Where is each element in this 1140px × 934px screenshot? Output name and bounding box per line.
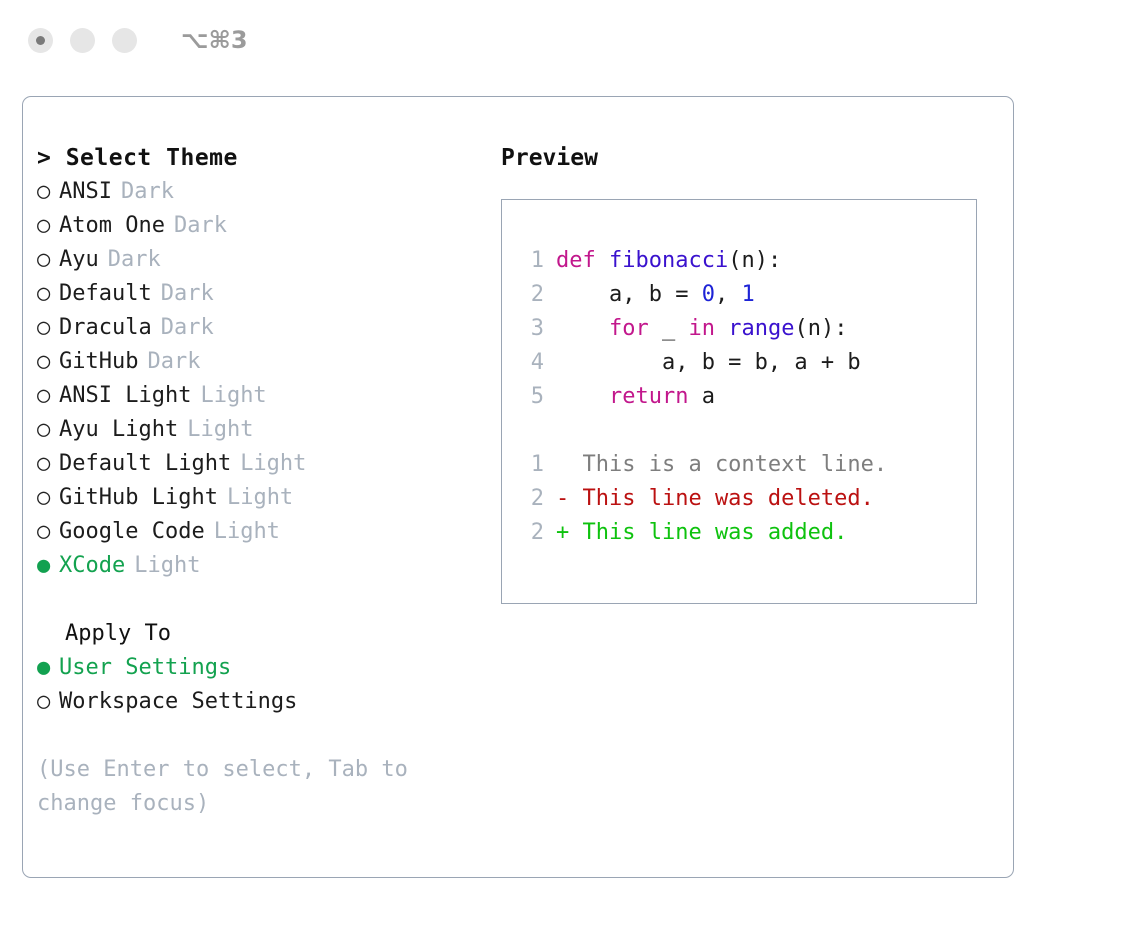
diff-line: 1 This is a context line. [518,448,976,482]
line-number: 2 [518,482,544,516]
radio-unselected-icon: ○ [37,345,59,379]
theme-kind-badge: Dark [161,311,214,345]
token-add: + This line was added. [556,520,847,545]
line-number: 1 [518,448,544,482]
theme-list-item[interactable]: ○GitHubDark [37,345,497,379]
radio-selected-icon: ● [37,549,59,583]
theme-name: Atom One [59,209,165,243]
code-text: a, b = b, a + b [556,346,861,380]
token-plain: (n): [728,248,781,273]
line-number: 4 [518,346,544,380]
code-text: + This line was added. [556,516,847,550]
token-plain [715,316,728,341]
radio-unselected-icon: ○ [37,447,59,481]
theme-list-item[interactable]: ●XCodeLight [37,549,497,583]
token-ctx: This is a context line. [556,452,887,477]
theme-selection-column: > Select Theme ○ANSIDark○Atom OneDark○Ay… [37,141,497,821]
close-icon [36,36,45,45]
code-line: 1def fibonacci(n): [518,244,976,278]
radio-unselected-icon: ○ [37,311,59,345]
theme-list-item[interactable]: ○ANSI LightLight [37,379,497,413]
token-num: 1 [741,282,754,307]
theme-kind-badge: Light [187,413,253,447]
theme-list-item[interactable]: ○AyuDark [37,243,497,277]
app-window: ⌥⌘3 > Select Theme ○ANSIDark○Atom OneDar… [0,0,1140,934]
list-spacer [37,583,497,617]
minimize-button[interactable] [70,28,95,53]
keyboard-hint-text: (Use Enter to select, Tab to change focu… [37,753,457,821]
token-kw: return [556,384,688,409]
radio-unselected-icon: ○ [37,515,59,549]
code-line: 4 a, b = b, a + b [518,346,976,380]
theme-list-item[interactable]: ○Ayu LightLight [37,413,497,447]
code-line: 3 for _ in range(n): [518,312,976,346]
theme-name: Dracula [59,311,152,345]
theme-name: GitHub [59,345,138,379]
token-plain: a, b = b, a + b [556,350,861,375]
code-line: 2 a, b = 0, 1 [518,278,976,312]
apply-to-name: User Settings [59,651,231,685]
diff-preview: 1 This is a context line.2- This line wa… [518,448,976,550]
theme-kind-badge: Light [200,379,266,413]
theme-name: Default [59,277,152,311]
line-number: 5 [518,380,544,414]
theme-list-item[interactable]: ○Atom OneDark [37,209,497,243]
token-fn: range [728,316,794,341]
theme-kind-badge: Light [227,481,293,515]
theme-kind-badge: Light [240,447,306,481]
keyboard-shortcut-hint: ⌥⌘3 [181,26,248,54]
apply-to-item[interactable]: ●User Settings [37,651,497,685]
theme-list-item[interactable]: ○DraculaDark [37,311,497,345]
code-text: for _ in range(n): [556,312,847,346]
main-panel: > Select Theme ○ANSIDark○Atom OneDark○Ay… [22,96,1014,878]
theme-kind-badge: Dark [147,345,200,379]
apply-to-name: Workspace Settings [59,685,297,719]
theme-name: ANSI Light [59,379,191,413]
theme-list-item[interactable]: ○Default LightLight [37,447,497,481]
apply-to-label: Apply To [37,617,497,651]
token-del: - This line was deleted. [556,486,874,511]
code-text: return a [556,380,715,414]
line-number: 2 [518,278,544,312]
theme-kind-badge: Light [134,549,200,583]
preview-box: 1def fibonacci(n):2 a, b = 0, 13 for _ i… [501,199,977,604]
token-plain: _ [649,316,689,341]
line-number: 3 [518,312,544,346]
token-plain: , [715,282,742,307]
apply-to-list: ●User Settings○Workspace Settings [37,651,497,719]
zoom-button[interactable] [112,28,137,53]
theme-kind-badge: Dark [161,277,214,311]
code-text: - This line was deleted. [556,482,874,516]
radio-unselected-icon: ○ [37,277,59,311]
theme-name: GitHub Light [59,481,218,515]
line-number: 2 [518,516,544,550]
diff-line: 2- This line was deleted. [518,482,976,516]
theme-list-item[interactable]: ○GitHub LightLight [37,481,497,515]
radio-unselected-icon: ○ [37,685,59,719]
token-kw: for [556,316,649,341]
token-kw: in [688,316,715,341]
token-plain: a [688,384,715,409]
theme-list-item[interactable]: ○Google CodeLight [37,515,497,549]
token-plain: (n): [794,316,847,341]
theme-name: ANSI [59,175,112,209]
theme-kind-badge: Dark [174,209,227,243]
line-number: 1 [518,244,544,278]
token-plain: a, b = [556,282,702,307]
code-diff-spacer [518,414,976,448]
radio-unselected-icon: ○ [37,209,59,243]
code-preview: 1def fibonacci(n):2 a, b = 0, 13 for _ i… [518,244,976,414]
theme-kind-badge: Dark [121,175,174,209]
token-num: 0 [702,282,715,307]
theme-name: Ayu [59,243,99,277]
page-title: > Select Theme [37,141,497,175]
theme-kind-badge: Light [214,515,280,549]
radio-unselected-icon: ○ [37,379,59,413]
code-text: a, b = 0, 1 [556,278,755,312]
theme-kind-badge: Dark [108,243,161,277]
radio-selected-icon: ● [37,651,59,685]
diff-line: 2+ This line was added. [518,516,976,550]
code-line: 5 return a [518,380,976,414]
preview-title: Preview [501,141,1001,175]
theme-list: ○ANSIDark○Atom OneDark○AyuDark○DefaultDa… [37,175,497,583]
token-fn: fibonacci [609,248,728,273]
close-button[interactable] [28,28,53,53]
radio-unselected-icon: ○ [37,413,59,447]
theme-name: XCode [59,549,125,583]
code-text: def fibonacci(n): [556,244,781,278]
radio-unselected-icon: ○ [37,175,59,209]
radio-unselected-icon: ○ [37,243,59,277]
theme-name: Google Code [59,515,205,549]
preview-column: Preview 1def fibonacci(n):2 a, b = 0, 13… [501,141,1001,604]
theme-name: Default Light [59,447,231,481]
apply-to-item[interactable]: ○Workspace Settings [37,685,497,719]
token-kw: def [556,248,609,273]
traffic-light-group [28,28,137,53]
theme-list-item[interactable]: ○ANSIDark [37,175,497,209]
code-text: This is a context line. [556,448,887,482]
theme-list-item[interactable]: ○DefaultDark [37,277,497,311]
title-bar: ⌥⌘3 [0,0,1140,80]
radio-unselected-icon: ○ [37,481,59,515]
theme-name: Ayu Light [59,413,178,447]
